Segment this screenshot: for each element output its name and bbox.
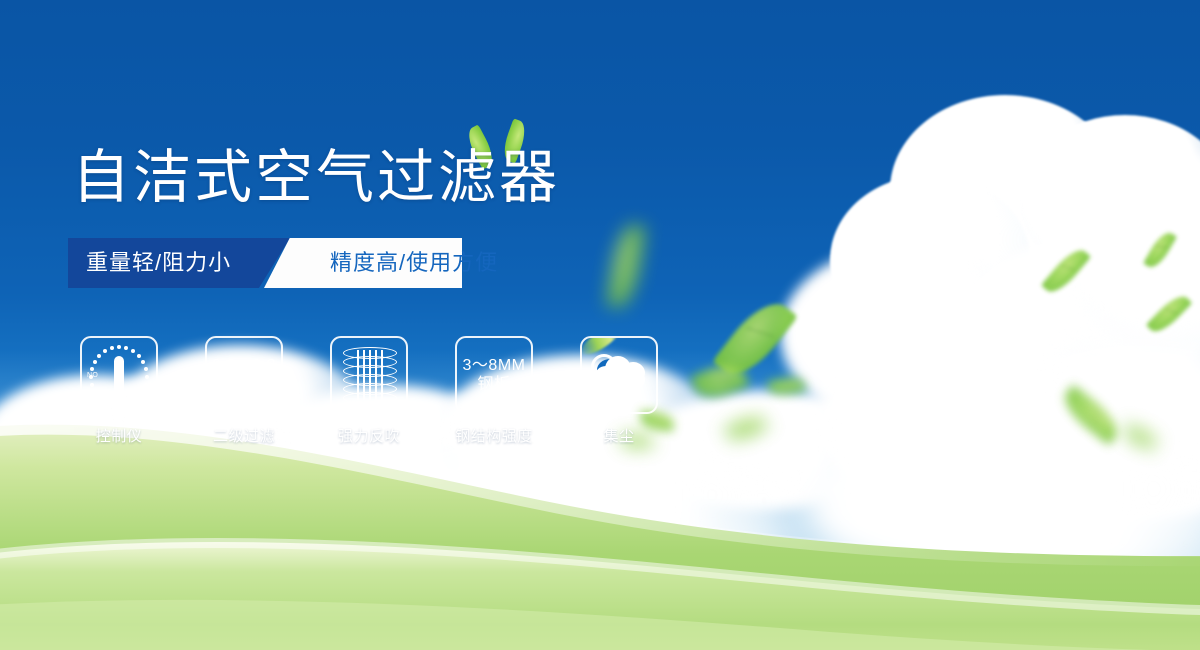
feature-item-backblow[interactable]: 强力反吹 <box>330 336 408 446</box>
feature-label: 钢结构强度 <box>455 425 533 446</box>
steel-plate-text-icon: 3～8MM 钢板 <box>463 356 526 394</box>
pressure-text-icon: 0.6～0.8 MPA <box>212 356 276 394</box>
pressure-value-line2: MPA <box>212 375 276 394</box>
pressure-value-line1: 0.6～0.8 <box>212 356 276 375</box>
air-label: Air <box>589 392 649 404</box>
feature-label: 二级过滤 <box>213 425 275 446</box>
feature-label: 控制仪 <box>96 425 143 446</box>
feature-list: NO OFF 控制仪 0.6～0.8 MPA 二级过滤 <box>80 336 658 446</box>
subtitle-left-text: 重量轻/阻力小 <box>86 238 231 288</box>
leaf-decoration <box>606 222 645 309</box>
feature-icon-box: 0.6～0.8 MPA <box>205 336 283 414</box>
feature-icon-box: Air <box>580 336 658 414</box>
subtitle-banner: 重量轻/阻力小 精度高/使用方便 <box>68 238 462 288</box>
cloud-air-icon: Air <box>589 350 649 400</box>
steel-thickness-line2: 钢板 <box>463 375 526 394</box>
steel-thickness-line1: 3～8MM <box>463 356 526 375</box>
gauge-on-label: NO <box>87 372 98 379</box>
feature-item-dust-collection[interactable]: Air 集尘 <box>580 336 658 446</box>
feature-item-steel-strength[interactable]: 3～8MM 钢板 钢结构强度 <box>455 336 533 446</box>
feature-icon-box: NO OFF <box>80 336 158 414</box>
feature-icon-box: 3～8MM 钢板 <box>455 336 533 414</box>
feature-item-two-stage-filter[interactable]: 0.6～0.8 MPA 二级过滤 <box>205 336 283 446</box>
feature-icon-box <box>330 336 408 414</box>
feature-label: 集尘 <box>603 425 634 446</box>
coil-filter-icon <box>343 347 395 403</box>
subtitle-right-text: 精度高/使用方便 <box>330 238 498 288</box>
feature-label: 强力反吹 <box>338 425 400 446</box>
page-title: 自洁式空气过滤器 <box>72 146 560 210</box>
feature-item-controller[interactable]: NO OFF 控制仪 <box>80 336 158 446</box>
hero-banner: 自洁式空气过滤器 重量轻/阻力小 精度高/使用方便 <box>0 0 1200 650</box>
gauge-off-label: OFF <box>134 394 149 401</box>
gauge-icon: NO OFF <box>88 344 150 406</box>
